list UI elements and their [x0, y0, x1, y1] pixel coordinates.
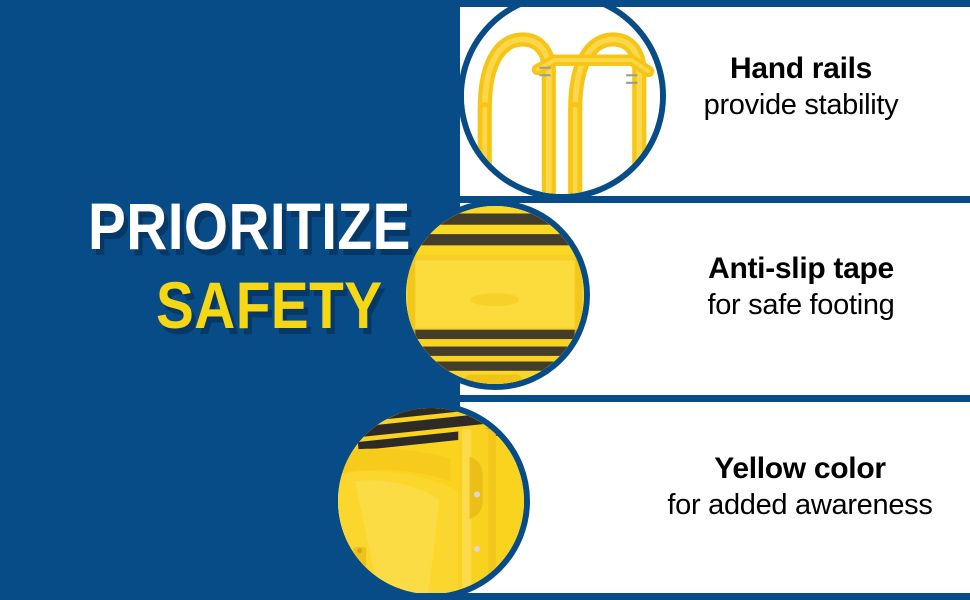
feature-title-anti-slip-tape: Anti-slip tape — [636, 252, 966, 286]
feature-title-hand-rails: Hand rails — [636, 52, 966, 86]
section-divider-2 — [0, 395, 970, 402]
top-edge-strip — [0, 0, 970, 7]
headline-line-prioritize: PRIORITIZE — [88, 196, 380, 257]
headline-line-safety: SAFETY — [156, 275, 390, 336]
feature-text-anti-slip-tape: Anti-slip tape for safe footing — [636, 252, 966, 322]
feature-text-hand-rails: Hand rails provide stability — [636, 52, 966, 122]
feature-subtitle-yellow-color: for added awareness — [630, 488, 970, 522]
feature-title-yellow-color: Yellow color — [630, 452, 970, 486]
bottom-edge-strip — [0, 593, 970, 600]
feature-text-yellow-color: Yellow color for added awareness — [630, 452, 970, 522]
feature-image-yellow-color — [332, 402, 530, 600]
feature-subtitle-hand-rails: provide stability — [636, 88, 966, 122]
feature-image-anti-slip-tape — [400, 200, 590, 390]
yellow-color-illustration — [338, 408, 524, 594]
hand-rails-illustration — [464, 0, 660, 194]
feature-subtitle-anti-slip-tape: for safe footing — [636, 288, 966, 322]
anti-slip-tape-illustration — [406, 206, 584, 384]
feature-image-hand-rails — [458, 0, 666, 200]
infographic-banner: PRIORITIZE SAFETY Hand rails provide sta… — [0, 0, 970, 600]
page-title: PRIORITIZE SAFETY — [88, 196, 428, 335]
